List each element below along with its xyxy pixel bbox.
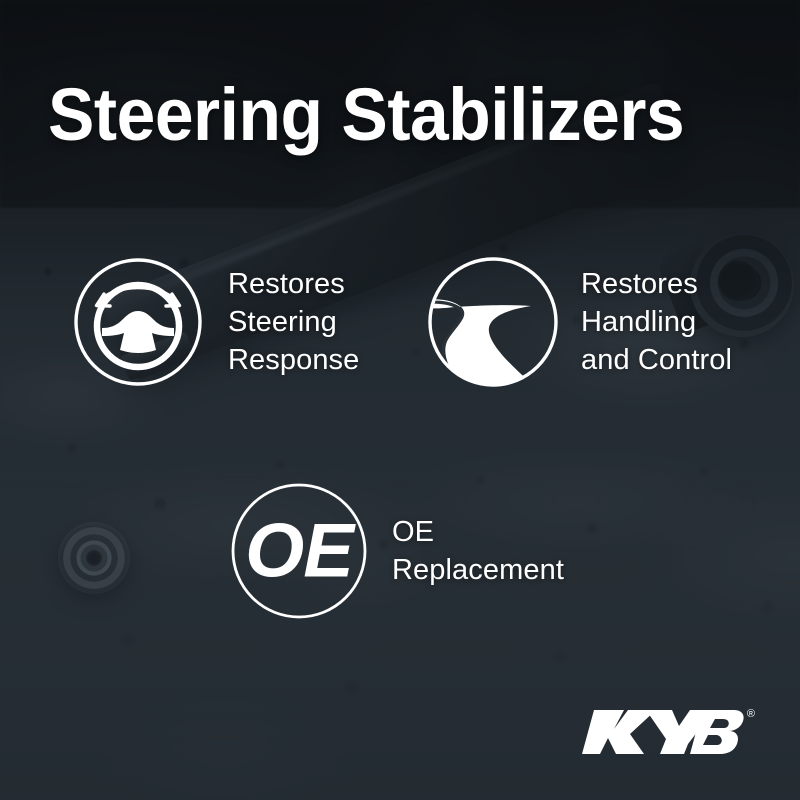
oe-badge-icon: OE xyxy=(230,482,368,620)
promo-graphic: Steering Stabilizers xyxy=(0,0,800,800)
feature-label: Restores Handling and Control xyxy=(581,265,732,379)
kyb-wordmark xyxy=(584,706,744,758)
oe-badge-text: OE xyxy=(245,509,356,594)
kyb-logo: ® xyxy=(584,706,755,758)
feature-restores-handling-and-control: Restores Handling and Control xyxy=(427,256,732,388)
steering-wheel-icon xyxy=(72,256,204,388)
winding-road-icon xyxy=(427,256,559,388)
feature-label: Restores Steering Response xyxy=(228,265,359,379)
feature-oe-replacement: OE OE Replacement xyxy=(230,482,564,620)
feature-restores-steering-response: Restores Steering Response xyxy=(72,256,359,388)
feature-label: OE Replacement xyxy=(392,513,564,589)
page-title: Steering Stabilizers xyxy=(48,78,684,152)
registered-trademark-symbol: ® xyxy=(747,709,755,720)
content-layer: Steering Stabilizers xyxy=(0,0,800,800)
